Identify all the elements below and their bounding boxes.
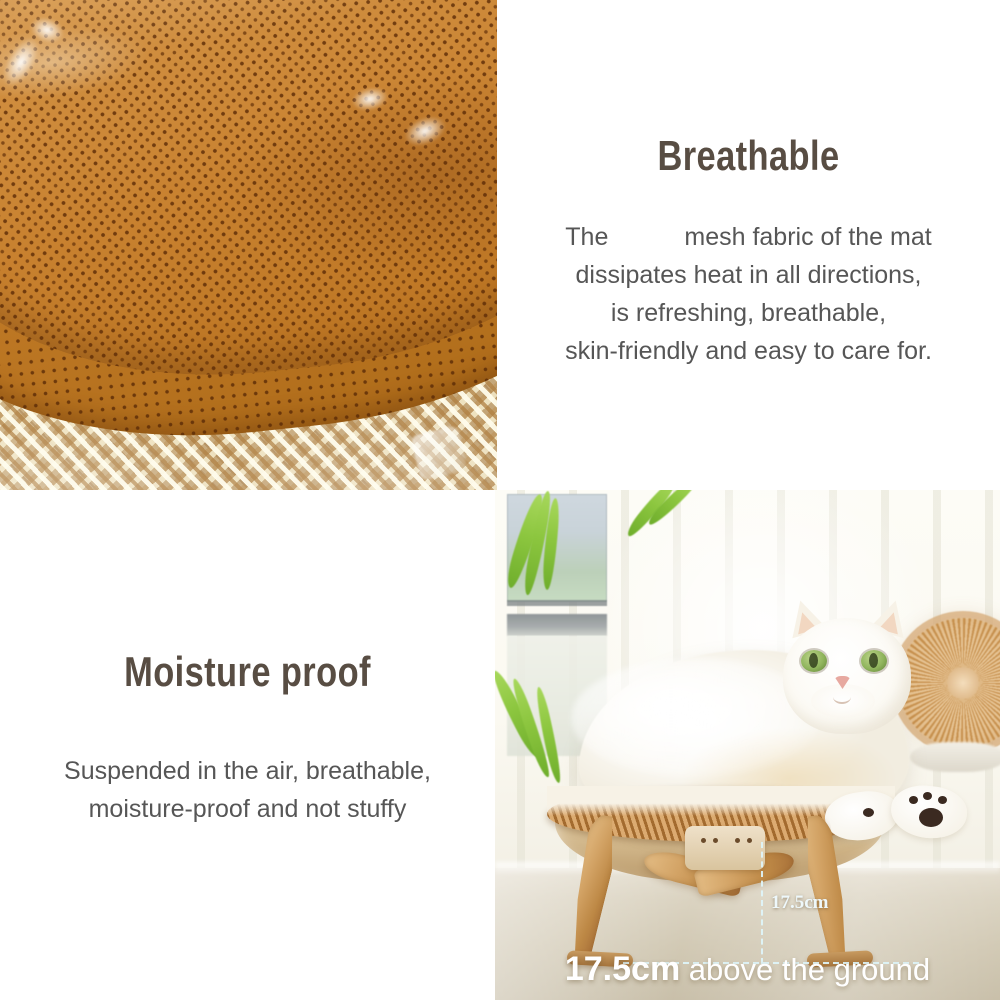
breathable-line-1: Themesh fabric of the mat [497, 218, 1000, 256]
rattan-mesh-closeup-photo [0, 0, 497, 490]
cat-hammock-photo: 17.5cm 17.5cm above the ground [495, 490, 1000, 1000]
breathable-body-copy: Themesh fabric of the mat dissipates hea… [497, 218, 1000, 370]
ground-height-text: above the ground [680, 952, 930, 987]
moisture-proof-heading: Moisture proof [45, 648, 451, 696]
wooden-stand-center-hub [685, 826, 765, 870]
cat-toe-pad [923, 792, 932, 800]
rattan-photo-canvas [0, 0, 497, 490]
hub-screw [713, 838, 718, 843]
moisture-line-2: moisture-proof and not stuffy [0, 790, 495, 828]
cat-photo-canvas: 17.5cm 17.5cm above the ground [495, 490, 1000, 1000]
breathable-text-panel: Breathable Themesh fabric of the mat dis… [497, 0, 1000, 490]
breathable-line-1-part-a: The [565, 223, 608, 251]
window-sill [507, 614, 607, 636]
hub-screw [701, 838, 706, 843]
mesh-highlight [0, 0, 497, 406]
product-feature-collage: Breathable Themesh fabric of the mat dis… [0, 0, 1000, 1000]
moisture-line-1: Suspended in the air, breathable, [0, 752, 495, 790]
breathable-line-1-part-b: mesh fabric of the mat [684, 223, 931, 251]
cat-toe-pad [909, 796, 918, 804]
ground-height-caption: 17.5cm above the ground [495, 951, 1000, 988]
cat-mouth [833, 690, 851, 704]
moisture-proof-text-panel: Moisture proof Suspended in the air, bre… [0, 490, 495, 1000]
breathable-line-2: dissipates heat in all directions, [497, 256, 1000, 294]
breathable-line-4: skin-friendly and easy to care for. [497, 332, 1000, 370]
measurement-vertical-dashed [761, 842, 763, 964]
ground-height-value: 17.5cm [565, 950, 680, 988]
cat-paw-pad [919, 808, 943, 827]
breathable-line-3: is refreshing, breathable, [497, 294, 1000, 332]
cat-pupil-left [809, 653, 818, 668]
cat-pupil-right [869, 653, 878, 668]
cat-toe-pad [863, 808, 874, 817]
hub-screw [735, 838, 740, 843]
breathable-heading: Breathable [542, 132, 954, 180]
perforated-mesh-rim [0, 0, 497, 406]
moisture-proof-body-copy: Suspended in the air, breathable, moistu… [0, 752, 495, 828]
cat-toe-pad [938, 796, 947, 804]
rattan-fan-base [910, 742, 1000, 772]
dimension-label: 17.5cm [771, 892, 829, 914]
hub-screw [747, 838, 752, 843]
